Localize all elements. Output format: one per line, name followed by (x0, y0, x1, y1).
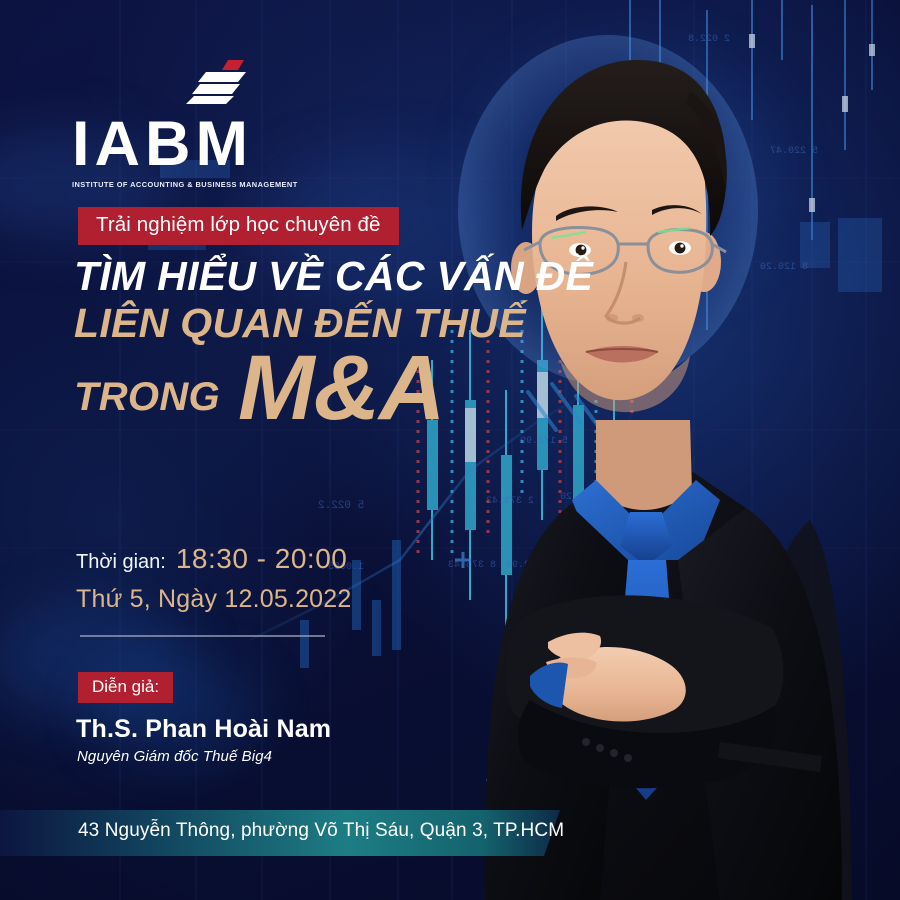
section-divider (80, 635, 325, 637)
stacked-bars-logo-icon (180, 60, 252, 104)
course-type-badge: Trải nghiệm lớp học chuyên đề (78, 207, 399, 245)
schedule-time-label: Thời gian: (76, 551, 166, 574)
headline-line-1: TÌM HIỂU VỀ CÁC VẤN ĐỀ (74, 256, 594, 297)
schedule-time-row: Thời gian: 18:30 - 20:00 (76, 543, 351, 575)
headline-line-3-row: TRONG M&A (74, 346, 594, 431)
headline-block: TÌM HIỂU VỀ CÁC VẤN ĐỀ LIÊN QUAN ĐẾN THU… (74, 256, 594, 431)
schedule-date-value: Thứ 5, Ngày 12.05.2022 (76, 585, 351, 614)
poster-canvas: 2 022.8 8 220.47 5 220.47 8 120.20 5 022… (0, 0, 900, 900)
footer-address: 43 Nguyễn Thông, phường Võ Thị Sáu, Quận… (78, 820, 564, 842)
speaker-badge-label: Diễn giả: (92, 677, 159, 697)
headline-emphasis: M&A (238, 346, 445, 431)
brand-tagline: INSTITUTE OF ACCOUNTING & BUSINESS MANAG… (72, 180, 302, 189)
speaker-badge: Diễn giả: (78, 672, 173, 703)
schedule-block: Thời gian: 18:30 - 20:00 Thứ 5, Ngày 12.… (76, 543, 351, 614)
headline-line-3: TRONG (74, 377, 220, 431)
speaker-role: Nguyên Giám đốc Thuế Big4 (77, 748, 272, 765)
brand-name: IABM (72, 115, 302, 175)
brand-logo: IABM INSTITUTE OF ACCOUNTING & BUSINESS … (72, 60, 302, 189)
schedule-time-value: 18:30 - 20:00 (176, 543, 348, 575)
course-type-badge-label: Trải nghiệm lớp học chuyên đề (96, 213, 381, 237)
speaker-portrait (390, 0, 900, 900)
speaker-name: Th.S. Phan Hoài Nam (76, 715, 331, 744)
